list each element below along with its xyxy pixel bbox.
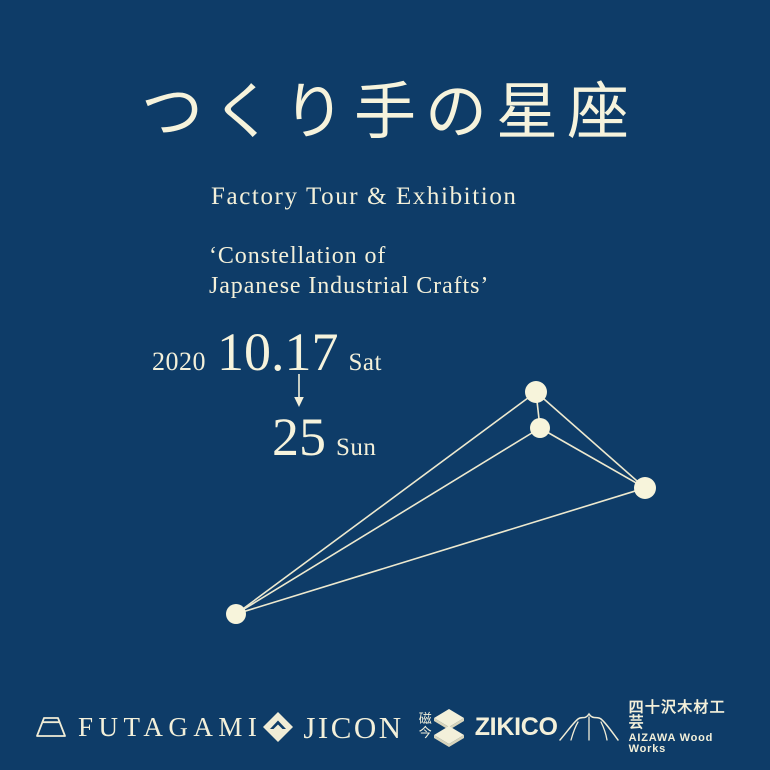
logo-aizawa-label: 四十沢木材工芸 AIZAWA Wood Works	[629, 700, 737, 755]
logo-futagami-label: FUTAGAMI	[78, 714, 262, 741]
star-mid	[530, 418, 550, 438]
logo-aizawa[interactable]: 四十沢木材工芸 AIZAWA Wood Works	[558, 700, 737, 755]
mountain-icon	[558, 709, 620, 745]
trapezoid-icon	[33, 714, 69, 740]
logo-jicon-kanji: 磁 今	[419, 713, 432, 740]
logo-jicon[interactable]: JICON 磁 今	[262, 711, 431, 743]
date-end-value: 25	[272, 410, 326, 464]
date-start-value: 10.17	[217, 325, 339, 379]
subtitle-quote-line-1: ‘Constellation of	[209, 241, 489, 271]
constellation-line	[540, 428, 645, 488]
logo-futagami[interactable]: FUTAGAMI	[33, 714, 262, 741]
subtitle-english: Factory Tour & Exhibition	[211, 183, 518, 211]
logo-jicon-kanji-bottom: 今	[419, 727, 432, 741]
date-start-weekday: Sat	[349, 349, 382, 377]
constellation-line	[536, 392, 645, 488]
constellation-line	[536, 392, 540, 428]
star-right	[634, 477, 656, 499]
subtitle-quote-line-2: Japanese Industrial Crafts’	[209, 271, 489, 301]
date-end-weekday: Sun	[336, 434, 376, 462]
logo-jicon-kanji-top: 磁	[419, 713, 432, 727]
arrow-down-icon	[288, 374, 310, 408]
logo-zikico[interactable]: ZIKICO	[432, 707, 558, 747]
sponsor-logo-bar: FUTAGAMI JICON 磁 今 ZIKICO	[0, 684, 770, 770]
poster-canvas: つくり手の星座 Factory Tour & Exhibition ‘Const…	[0, 0, 770, 770]
constellation-line	[236, 488, 645, 614]
date-year: 2020	[152, 347, 206, 377]
logo-zikico-label: ZIKICO	[475, 715, 558, 740]
logo-aizawa-label-jp: 四十沢木材工芸	[629, 700, 737, 730]
stacked-diamonds-icon	[432, 707, 466, 747]
subtitle-quote: ‘Constellation of Japanese Industrial Cr…	[209, 241, 489, 301]
date-start: 2020 10.17 Sat	[152, 325, 382, 379]
star-top	[525, 381, 547, 403]
logo-jicon-label: JICON	[303, 712, 403, 743]
date-end: 25 Sun	[272, 410, 376, 464]
logo-aizawa-label-en: AIZAWA Wood Works	[629, 733, 737, 755]
page-title-jp: つくり手の星座	[0, 78, 770, 146]
diamond-icon	[262, 711, 294, 743]
star-bottom-left	[226, 604, 246, 624]
